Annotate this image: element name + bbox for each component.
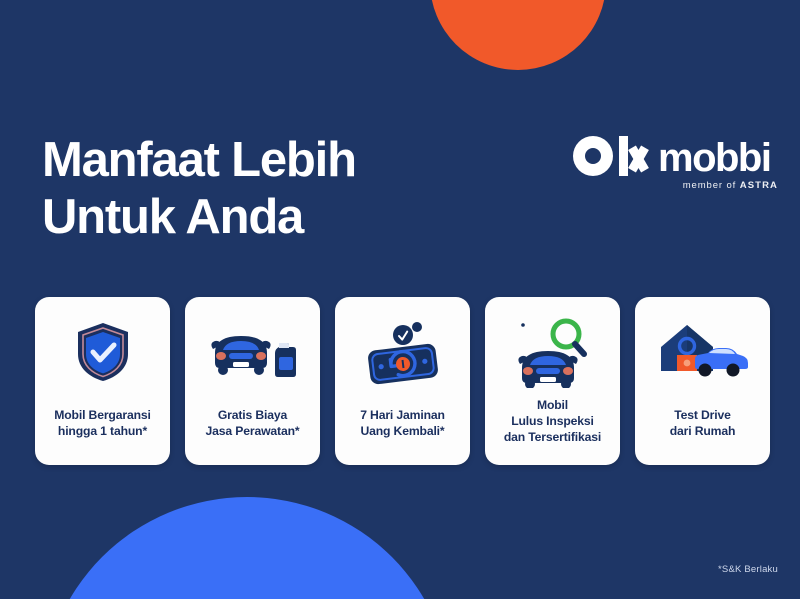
olxmobbi-logo-icon: mobbi — [572, 134, 778, 178]
benefit-card-home-test-drive[interactable]: Test Drive dari Rumah — [635, 297, 770, 465]
brand-logo: mobbi member of ASTRA — [572, 134, 778, 191]
shield-check-icon — [74, 313, 132, 391]
benefit-card-warranty[interactable]: Mobil Bergaransi hingga 1 tahun* — [35, 297, 170, 465]
money-back-icon — [362, 313, 444, 391]
page-title: Manfaat Lebih Untuk Anda — [42, 132, 356, 246]
home-test-drive-icon — [657, 313, 749, 391]
svg-text:mobbi: mobbi — [658, 136, 770, 178]
decorative-circle-blue — [42, 497, 452, 599]
benefit-card-label: Test Drive dari Rumah — [664, 407, 742, 439]
logo-wordmark: mobbi — [572, 134, 778, 178]
benefit-card-label: Mobil Bergaransi hingga 1 tahun* — [48, 407, 156, 439]
benefit-card-inspection[interactable]: Mobil Lulus Inspeksi dan Tersertifikasi — [485, 297, 620, 465]
car-maintenance-icon — [207, 313, 299, 391]
promo-poster: Manfaat Lebih Untuk Anda mobbi member of… — [0, 0, 800, 599]
logo-member-tagline: member of ASTRA — [572, 180, 778, 191]
benefit-card-list: Mobil Bergaransi hingga 1 tahun* — [35, 297, 770, 465]
decorative-circle-orange — [430, 0, 606, 70]
benefit-card-label: 7 Hari Jaminan Uang Kembali* — [354, 407, 451, 439]
benefit-card-label: Mobil Lulus Inspeksi dan Tersertifikasi — [498, 397, 607, 445]
terms-footnote: *S&K Berlaku — [718, 564, 778, 575]
car-inspection-icon — [514, 313, 592, 391]
member-prefix: member of — [683, 180, 740, 191]
member-brand: ASTRA — [740, 180, 778, 191]
benefit-card-label: Gratis Biaya Jasa Perawatan* — [200, 407, 306, 439]
benefit-card-money-back[interactable]: 7 Hari Jaminan Uang Kembali* — [335, 297, 470, 465]
benefit-card-free-maintenance[interactable]: Gratis Biaya Jasa Perawatan* — [185, 297, 320, 465]
